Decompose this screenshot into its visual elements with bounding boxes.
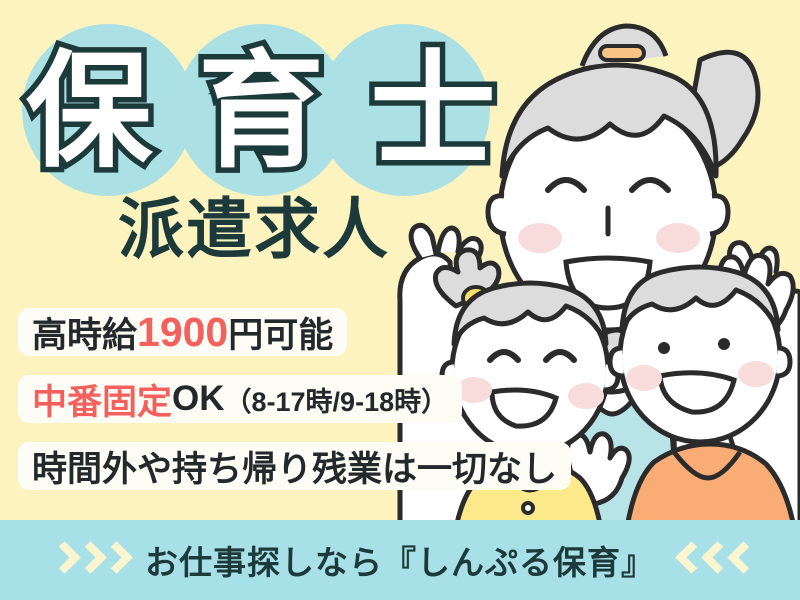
title-char-1: 保 bbox=[26, 49, 152, 175]
feature-pill-no-overtime: 時間外や持ち帰り残業は一切なし bbox=[18, 442, 571, 490]
chevrons-right bbox=[677, 543, 749, 577]
bottom-cta-text: お仕事探しなら『しんぷる保育』 bbox=[145, 536, 655, 584]
page-subtitle: 派遣求人 bbox=[118, 196, 390, 262]
chevron-right-icon bbox=[103, 543, 123, 577]
chevron-right-icon bbox=[77, 543, 97, 577]
feature-wage-suffix: 円可能 bbox=[228, 307, 333, 358]
advertisement-banner: 保 育 士 派遣求人 高時給 1900 円可能 中番固定 OK （8-17時/9… bbox=[0, 0, 800, 600]
chevron-left-icon bbox=[703, 543, 723, 577]
feature-pill-shift: 中番固定 OK （8-17時/9-18時） bbox=[18, 375, 462, 423]
page-title: 保 育 士 bbox=[26, 34, 496, 189]
chevron-left-icon bbox=[729, 543, 749, 577]
feature-wage-amount: 1900 bbox=[137, 309, 228, 356]
chevrons-left bbox=[51, 543, 123, 577]
feature-no-overtime-text: 時間外や持ち帰り残業は一切なし bbox=[32, 441, 557, 492]
chevron-right-icon bbox=[51, 543, 71, 577]
bottom-cta-bar: お仕事探しなら『しんぷる保育』 bbox=[0, 520, 800, 600]
feature-shift-highlight: 中番固定 bbox=[32, 374, 172, 425]
feature-wage-prefix: 高時給 bbox=[32, 307, 137, 358]
title-char-2: 育 bbox=[198, 49, 324, 175]
title-char-3: 士 bbox=[370, 49, 496, 175]
feature-shift-ok: OK bbox=[172, 379, 225, 419]
feature-pill-wage: 高時給 1900 円可能 bbox=[18, 308, 347, 356]
feature-shift-hours: （8-17時/9-18時） bbox=[225, 380, 449, 419]
chevron-left-icon bbox=[677, 543, 697, 577]
